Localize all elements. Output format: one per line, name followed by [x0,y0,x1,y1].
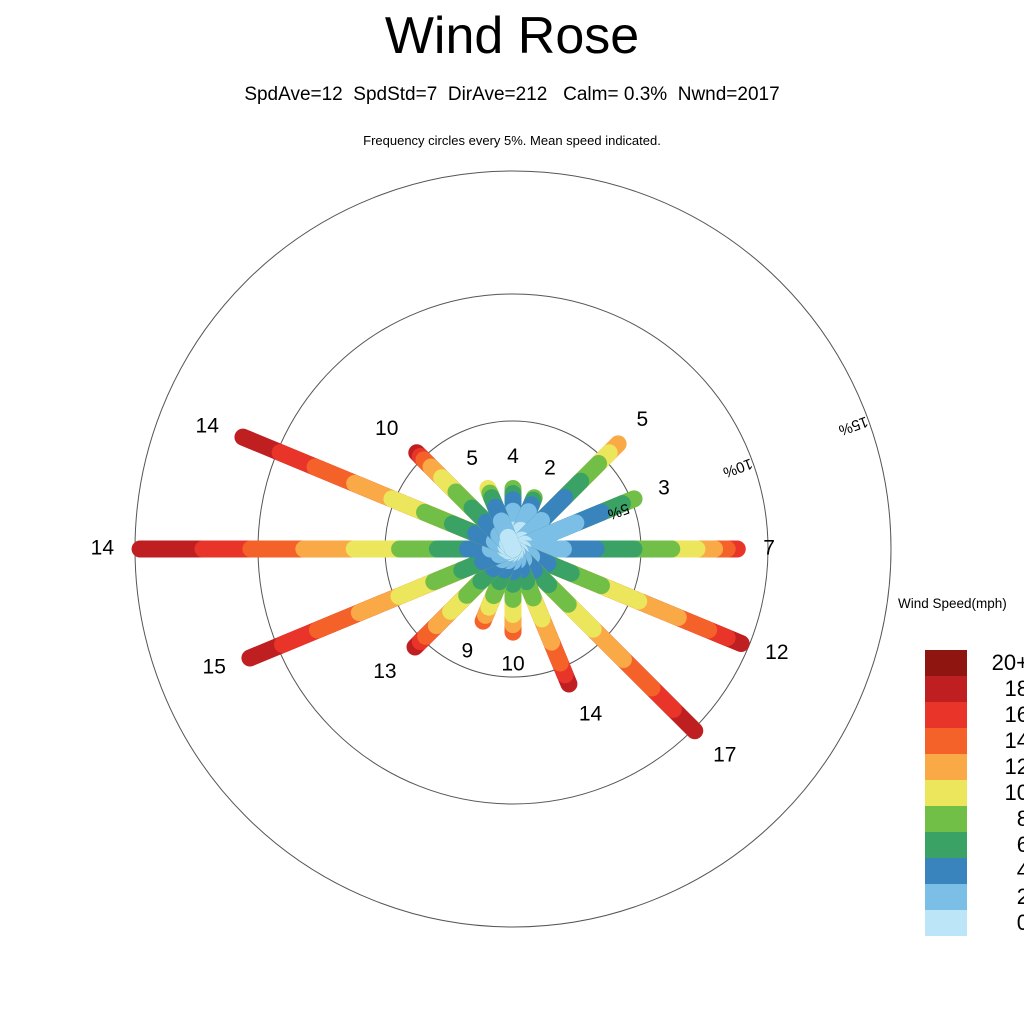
petal-WSW [250,549,513,658]
legend-swatch-2 [925,884,967,910]
petal-label-S: 10 [501,653,524,676]
petal-label-W: 14 [91,537,115,560]
legend-row: 20+ [925,650,1024,676]
petal-label-NE: 5 [637,408,649,431]
legend-label-8: 8 [967,806,1024,832]
legend-swatch-4 [925,858,967,884]
petal-segment-NNW-0 [508,537,513,549]
legend-swatch-10 [925,780,967,806]
legend-label-20plus: 20+ [967,650,1024,676]
petal-label-NNE: 2 [544,456,556,479]
wind-rose-page: Wind Rose SpdAve=12 SpdStd=7 DirAve=212 … [0,0,1024,1024]
legend-row: 16 [925,702,1024,728]
legend-swatch-12 [925,754,967,780]
petal-label-E: 7 [763,537,775,560]
legend-row: 6 [925,832,1024,858]
legend-label-2: 2 [967,884,1024,910]
wind-petals [140,437,741,731]
legend-label-18: 18 [967,676,1024,702]
petal-label-SSE: 14 [579,703,603,726]
petal-label-WSW: 15 [203,655,226,678]
petal-label-SSW: 9 [461,640,473,663]
wind-rose-plot: 5%10%15% 4253712171410913151414105 [0,0,1024,1024]
petal-label-NW: 10 [375,417,398,440]
legend-label-12: 12 [967,754,1024,780]
legend-entries: 20+181614121086420 [925,650,1024,936]
legend: Wind Speed(mph) 20+181614121086420 [880,596,1024,611]
petal-label-ENE: 3 [658,476,670,499]
petal-label-ESE: 12 [765,641,788,664]
petal-label-SE: 17 [713,744,736,767]
legend-label-16: 16 [967,702,1024,728]
legend-swatch-20plus [925,650,967,676]
legend-row: 4 [925,858,1024,884]
legend-swatch-0 [925,910,967,936]
petal-label-WNW: 14 [196,415,220,438]
legend-label-0: 0 [967,910,1024,936]
legend-row: 8 [925,806,1024,832]
legend-label-10: 10 [967,780,1024,806]
legend-swatch-18 [925,676,967,702]
legend-label-6: 6 [967,832,1024,858]
legend-row: 0 [925,910,1024,936]
legend-row: 12 [925,754,1024,780]
petal-SE [513,549,695,731]
legend-title: Wind Speed(mph) [880,596,1024,611]
legend-row: 2 [925,884,1024,910]
ring-label-15pct: 15% [836,413,870,439]
legend-swatch-6 [925,832,967,858]
legend-swatch-16 [925,702,967,728]
petal-label-SW: 13 [373,660,396,683]
legend-label-4: 4 [967,858,1024,884]
legend-label-14: 14 [967,728,1024,754]
legend-swatch-14 [925,728,967,754]
petal-label-NNW: 5 [466,447,478,470]
legend-swatch-8 [925,806,967,832]
ring-label-10pct: 10% [721,455,755,481]
petal-label-N: 4 [507,445,519,468]
legend-row: 14 [925,728,1024,754]
legend-row: 10 [925,780,1024,806]
legend-row: 18 [925,676,1024,702]
